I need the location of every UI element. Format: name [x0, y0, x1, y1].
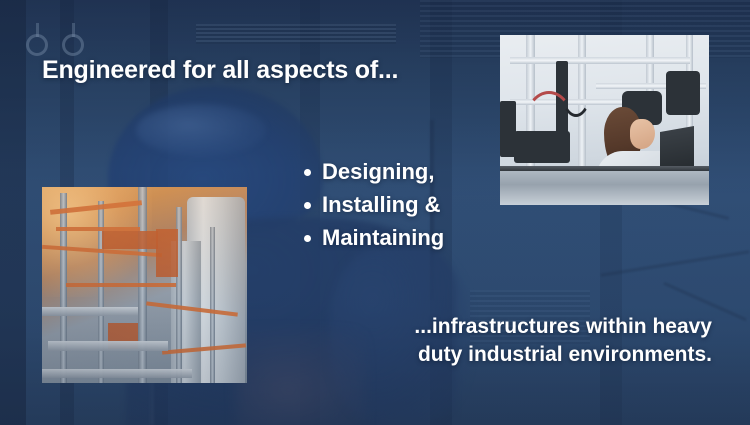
lab-bench-surface [500, 171, 709, 205]
list-item: Designing, [300, 160, 444, 184]
list-item: Maintaining [300, 226, 444, 250]
closing-line-1: ...infrastructures within heavy [382, 313, 712, 341]
refinery-photo [42, 187, 247, 383]
bullet-label: Installing & [322, 192, 441, 217]
lab-equipment-3 [666, 71, 700, 115]
list-item: Installing & [300, 193, 444, 217]
refinery-tone-overlay [42, 187, 247, 383]
lab-black-cable [558, 41, 594, 117]
page-title: Engineered for all aspects of... [42, 56, 398, 85]
bullet-list: Designing, Installing & Maintaining [300, 160, 444, 258]
engineer-photo [500, 35, 709, 205]
lab-equipment-5 [500, 101, 516, 157]
closing-statement: ...infrastructures within heavy duty ind… [382, 313, 712, 368]
lab-frame-rail-1 [510, 57, 690, 64]
presentation-slide: Engineered for all aspects of... Designi… [0, 0, 750, 425]
bullet-label: Designing, [322, 159, 434, 184]
bullet-label: Maintaining [322, 225, 444, 250]
closing-line-2: duty industrial environments. [382, 341, 712, 369]
